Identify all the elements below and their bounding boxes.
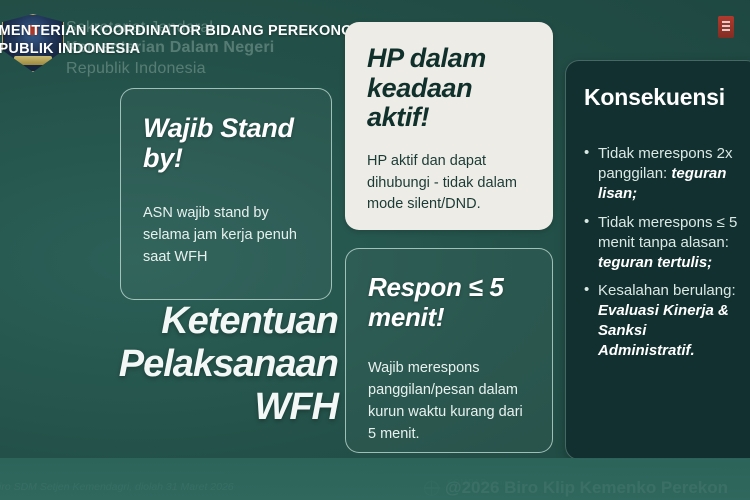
credit-text: @2026 Biro Klip Kemenko Perekon — [445, 478, 728, 498]
watermark-text: KOMPAS.com — [447, 478, 508, 487]
konsekuensi-list: Tidak merespons 2x panggilan: teguran li… — [584, 144, 745, 361]
card-hp-body: HP aktif dan dapat dihubungi - tidak dal… — [367, 151, 533, 215]
card-respon-body: Wajib merespons panggilan/pesan dalam ku… — [368, 358, 532, 445]
page-title-line-2: Pelaksanaan — [8, 343, 338, 386]
card-respon-title-line-1: Respon ≤ 5 — [368, 273, 532, 303]
card-standby-title: Wajib Stand by! — [143, 113, 311, 173]
panel-konsekuensi: Konsekuensi Tidak merespons 2x panggilan… — [565, 60, 750, 460]
card-hp-title-line-3: aktif! — [367, 103, 533, 133]
konsekuensi-item-text: Kesalahan berulang: — [598, 282, 736, 299]
source-note: Biro SDM Setjen Kemendagri, diolah 31 Ma… — [0, 481, 234, 493]
page-title-line-3: WFH — [8, 386, 338, 429]
card-standby-body: ASN wajib stand by selama jam kerja penu… — [143, 203, 311, 268]
header-ghost-line-3: Republik Indonesia — [66, 59, 274, 79]
card-respon-title-line-2: menit! — [368, 303, 532, 333]
konsekuensi-item: Kesalahan berulang: Evaluasi Kinerja & S… — [584, 281, 745, 361]
card-hp-title-line-1: HP dalam — [367, 44, 533, 74]
header-ghost-line-2: Kementerian Dalam Negeri — [66, 38, 274, 58]
konsekuensi-item-emphasis: Evaluasi Kinerja & Sanksi Administratif. — [598, 302, 729, 359]
card-standby-title-line-1: Wajib Stand — [143, 113, 311, 143]
card-respon-title: Respon ≤ 5 menit! — [368, 273, 532, 332]
page-title-line-1: Ketentuan — [8, 300, 338, 343]
page-title: Ketentuan Pelaksanaan WFH — [8, 300, 338, 429]
card-wajib-stand-by: Wajib Stand by! ASN wajib stand by selam… — [120, 88, 332, 300]
credit-bar: @2026 Biro Klip Kemenko Perekon — [424, 478, 728, 498]
card-respon-5-menit: Respon ≤ 5 menit! Wajib merespons panggi… — [345, 248, 553, 453]
card-hp-title-line-2: keadaan — [367, 74, 533, 104]
konsekuensi-item-text: Tidak merespons ≤ 5 menit tanpa alasan: — [598, 214, 737, 251]
corner-flag-icon — [718, 16, 734, 38]
konsekuensi-item: Tidak merespons ≤ 5 menit tanpa alasan: … — [584, 213, 745, 273]
card-hp-title: HP dalam keadaan aktif! — [367, 44, 533, 133]
slide-canvas: KEMENTERIAN KOORDINATOR BIDANG PEREKONOM… — [0, 0, 750, 500]
globe-icon — [424, 481, 439, 496]
konsekuensi-item-emphasis: teguran tertulis; — [598, 254, 712, 271]
header-organization-ghost: Sekretariat Jenderal Kementerian Dalam N… — [66, 18, 274, 79]
konsekuensi-item: Tidak merespons 2x panggilan: teguran li… — [584, 144, 745, 204]
panel-konsekuensi-title: Konsekuensi — [584, 85, 745, 110]
card-hp-aktif: HP dalam keadaan aktif! HP aktif dan dap… — [345, 22, 553, 230]
header-ghost-line-1: Sekretariat Jenderal — [66, 18, 274, 38]
card-standby-title-line-2: by! — [143, 143, 311, 173]
